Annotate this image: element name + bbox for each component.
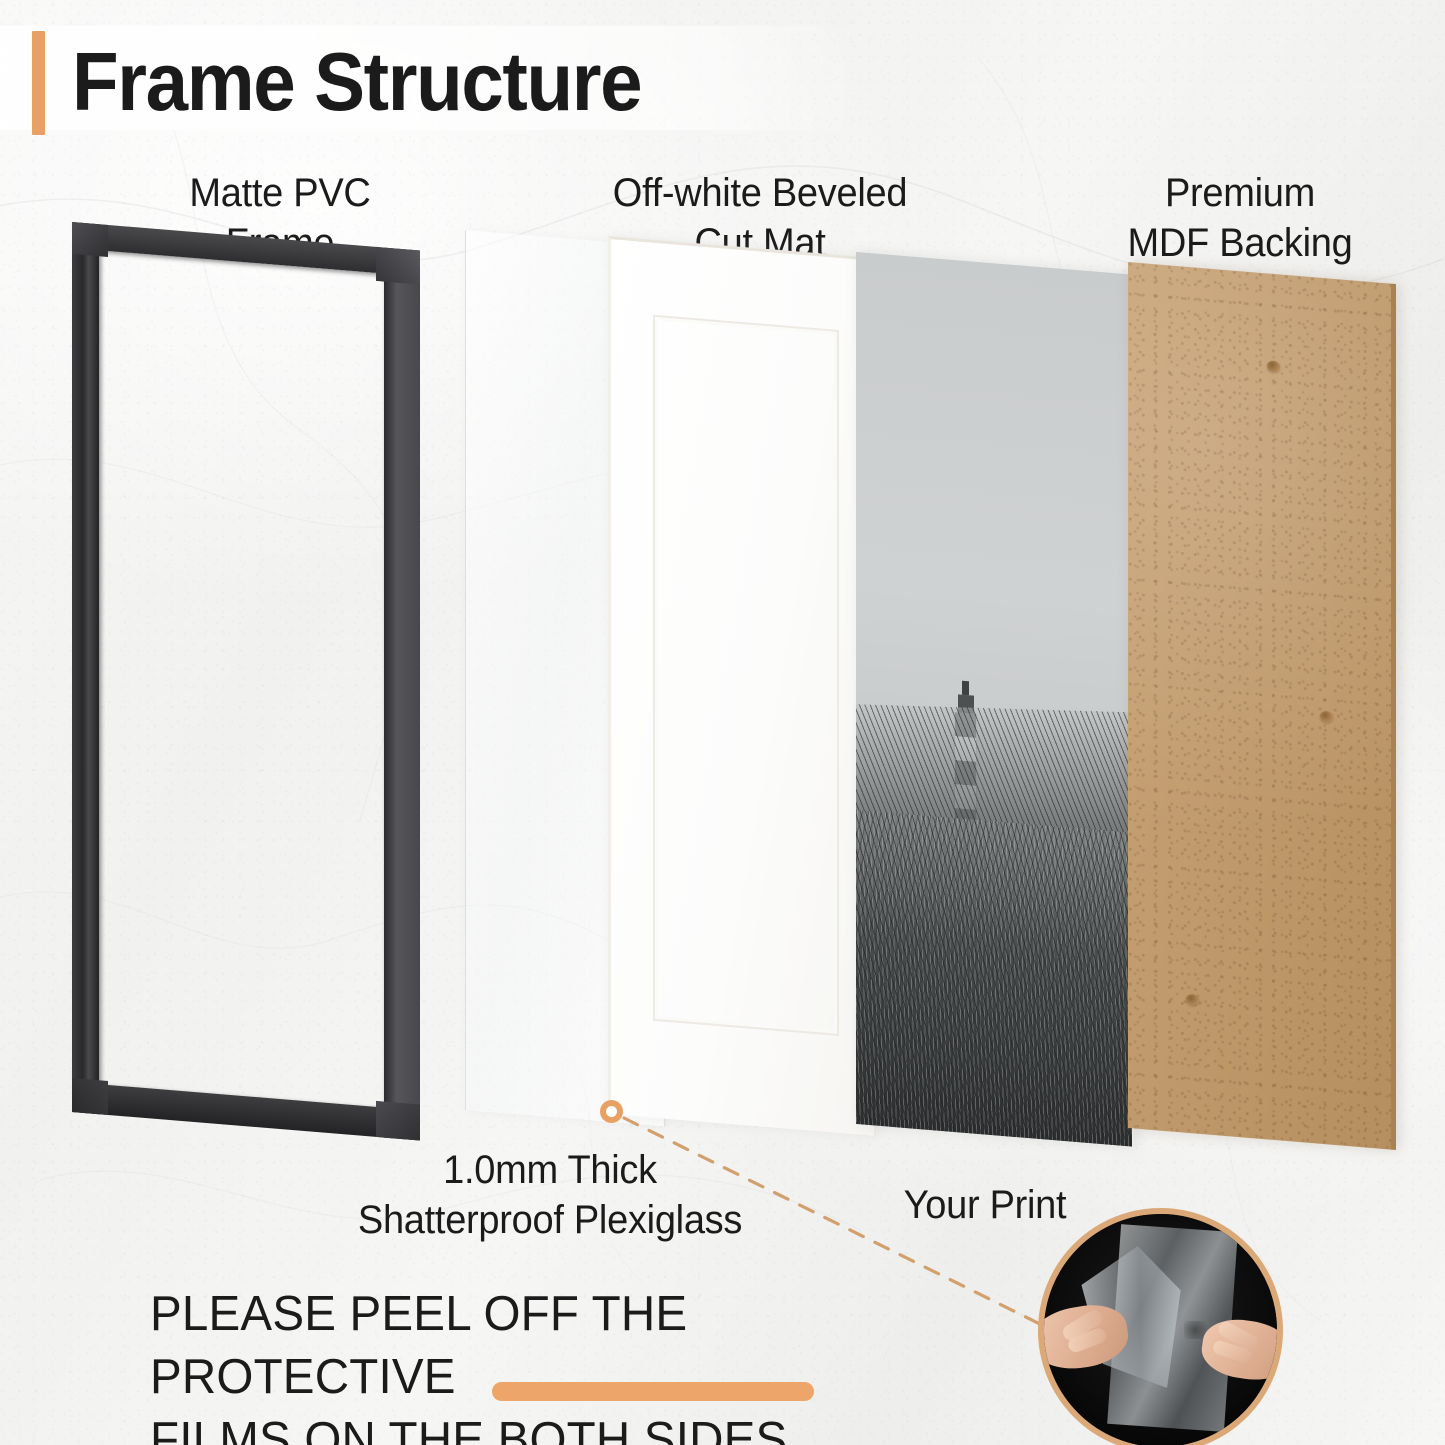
- infographic-canvas: Frame Structure Matte PVC Frame Off-whit…: [0, 0, 1445, 1445]
- orange-accent-bar: [32, 31, 45, 135]
- label-line-1: Matte PVC: [119, 168, 442, 218]
- frame-miter-top-left: [72, 222, 108, 257]
- label-line-1: Premium: [1050, 168, 1430, 218]
- print-photo: [856, 252, 1134, 1147]
- mat-board: [608, 236, 876, 1136]
- layer-matte-pvc-frame: [72, 258, 420, 1148]
- frame-miter-bottom-left: [72, 1078, 108, 1115]
- label-line-2: Shatterproof Plexiglass: [256, 1195, 845, 1245]
- label-line-1: 1.0mm Thick: [256, 1145, 845, 1195]
- frame-miter-bottom-right: [376, 1101, 420, 1141]
- frame-miter-top-right: [376, 247, 420, 285]
- instruction-line-2: FILMS ON THE BOTH SIDES: [150, 1409, 1004, 1445]
- frame-body: [72, 222, 420, 1141]
- page-title: Frame Structure: [72, 30, 641, 134]
- layer-premium-mdf-backing: [1128, 284, 1396, 1150]
- mat-window-opening: [653, 314, 839, 1036]
- frame-rail-right: [384, 248, 420, 1141]
- callout-dot-marker: [600, 1100, 623, 1123]
- layer-your-print: [856, 278, 1134, 1150]
- photo-dune-grass: [856, 810, 1132, 1147]
- label-mdf-backing: Premium MDF Backing: [1050, 168, 1430, 268]
- label-line-1: Off-white Beveled: [551, 168, 969, 218]
- instruction-line-1: PLEASE PEEL OFF THE PROTECTIVE: [150, 1283, 1004, 1409]
- mdf-fiber-texture: [1128, 262, 1391, 1150]
- peel-instruction: PLEASE PEEL OFF THE PROTECTIVE FILMS ON …: [150, 1283, 1004, 1445]
- lighthouse-cap: [962, 681, 969, 695]
- frame-opening: [99, 250, 384, 1107]
- label-line-2: MDF Backing: [1050, 218, 1430, 268]
- layer-beveled-cut-mat: [608, 266, 876, 1144]
- frame-rail-left: [72, 222, 99, 1114]
- peel-film-inset-photo: [1038, 1208, 1283, 1445]
- mdf-board: [1128, 262, 1396, 1150]
- mdf-knot-mark: [1320, 711, 1333, 723]
- label-plexiglass: 1.0mm Thick Shatterproof Plexiglass: [256, 1145, 845, 1245]
